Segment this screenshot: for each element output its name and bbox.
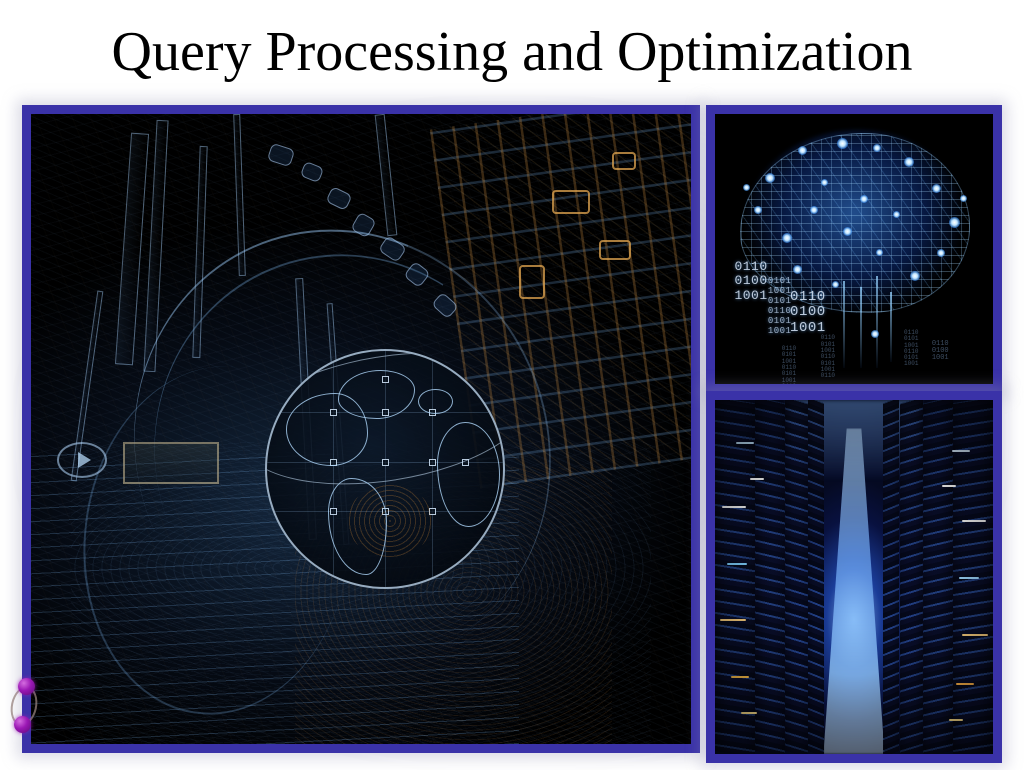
circuit-pad xyxy=(612,152,636,170)
panel-abstract-technology[interactable] xyxy=(22,105,700,753)
data-center-image xyxy=(715,400,993,754)
panel-data-center[interactable] xyxy=(706,391,1002,763)
binary-column-large: 0110 0100 1001 xyxy=(734,260,767,304)
brain-stem-trace xyxy=(876,276,878,368)
image-collage: 0110 0100 1001 0101 1001 0101 0110 0101 … xyxy=(22,105,1002,763)
binary-column-medium: 0101 1001 0101 0110 0101 1001 xyxy=(768,276,792,336)
binary-column-faint: 0110 0101 1001 0110 0101 1001 0110 xyxy=(821,335,835,379)
circuit-pad xyxy=(599,240,631,260)
ornament-sphere xyxy=(14,716,31,733)
abstract-technology-image xyxy=(31,114,691,744)
circuit-pad xyxy=(552,190,590,214)
binary-column-faint: 0110 0101 1001 0110 0101 1001 0110 0100 … xyxy=(782,346,796,384)
ornament-sphere xyxy=(18,678,35,695)
binary-column-emphasis: 0110 0100 1001 xyxy=(790,290,826,337)
play-icon xyxy=(57,442,107,478)
landmass-island xyxy=(418,389,453,415)
continent-south-america xyxy=(328,478,387,574)
screen-plate xyxy=(123,442,219,484)
binary-column-faint: 0110 0101 1001 0110 0101 1001 xyxy=(904,330,918,368)
brain-stem-trace xyxy=(890,292,892,362)
purple-sphere-ornament xyxy=(10,678,44,736)
brain-stem-trace xyxy=(843,281,845,367)
binary-column-faint: 0110 0100 1001 xyxy=(932,341,949,363)
circuit-brain-image: 0110 0100 1001 0101 1001 0101 0110 0101 … xyxy=(715,114,993,384)
wireframe-globe xyxy=(265,349,505,589)
panel-circuit-brain[interactable]: 0110 0100 1001 0101 1001 0101 0110 0101 … xyxy=(706,105,1002,393)
brain-stem-trace xyxy=(860,287,862,368)
play-triangle-icon xyxy=(78,452,91,468)
circuit-pad xyxy=(519,265,545,299)
vignette-overlay xyxy=(715,400,993,754)
page-title: Query Processing and Optimization xyxy=(0,20,1024,84)
